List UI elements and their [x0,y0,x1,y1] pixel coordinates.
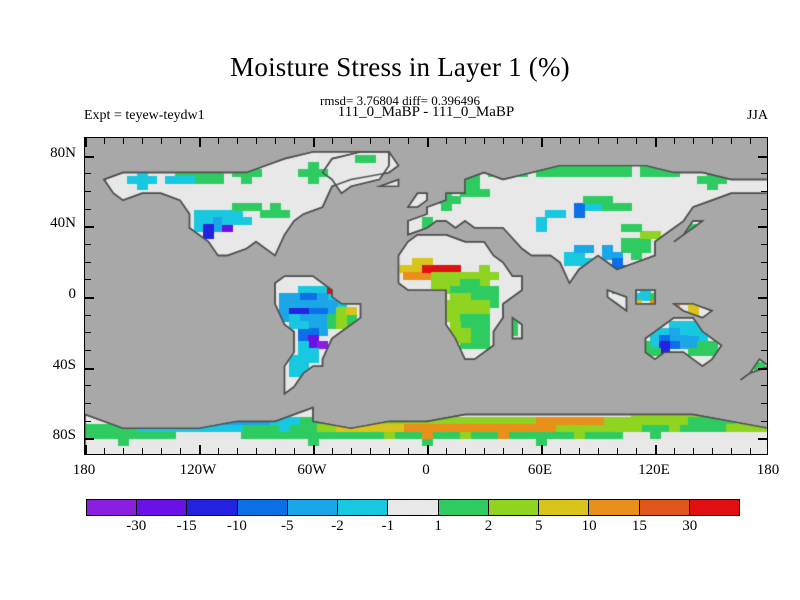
x-axis-tick [446,448,447,454]
y-axis-tick [85,332,91,333]
season-label: JJA [747,108,768,124]
x-axis-tick [218,138,219,144]
x-axis-tick [313,138,315,147]
x-axis-label: 60E [495,462,585,479]
y-axis-tick [758,226,767,228]
x-axis-tick [503,138,504,144]
y-axis-tick [758,368,767,370]
colorbar-tick-labels: -30-15-10-5-2-1125101530 [86,518,740,540]
x-axis-tick [522,448,523,454]
y-axis-label: 40N [4,215,76,232]
colorbar-segment [439,500,489,515]
x-axis-tick [408,138,409,144]
y-axis-tick [761,403,767,404]
colorbar-segment [489,500,539,515]
x-axis-tick [465,138,466,144]
x-axis-tick [598,138,599,144]
x-axis-tick [693,138,694,144]
x-axis-tick [560,448,561,454]
x-axis-tick [560,138,561,144]
x-axis-tick [218,448,219,454]
colorbar-segment [640,500,690,515]
x-axis-tick [275,448,276,454]
x-axis-tick [541,445,543,454]
x-axis-tick [332,138,333,144]
y-axis-tick [85,421,91,422]
y-axis-tick [761,173,767,174]
x-axis-tick [693,448,694,454]
y-axis-tick [85,315,91,316]
colorbar-segment [288,500,338,515]
x-axis-tick [370,448,371,454]
x-axis-tick [389,448,390,454]
x-axis-tick [104,448,105,454]
x-axis-tick [180,448,181,454]
x-axis-tick [408,448,409,454]
x-axis-tick [655,445,657,454]
x-axis-tick [237,448,238,454]
x-axis-tick [180,138,181,144]
page-title: Moisture Stress in Layer 1 (%) [0,52,800,83]
x-axis-tick [712,138,713,144]
y-axis-label: 40S [4,357,76,374]
y-axis-tick [761,209,767,210]
case-comparison-label: 111_0_MaBP - 111_0_MaBP [84,104,768,121]
x-axis-tick [465,448,466,454]
x-axis-tick [750,448,751,454]
x-axis-tick [731,448,732,454]
x-axis-label: 120E [609,462,699,479]
figure-root: Moisture Stress in Layer 1 (%) rmsd= 3.7… [0,0,800,600]
y-axis-tick [85,385,91,386]
x-axis-tick [123,138,124,144]
colorbar-segment [539,500,589,515]
y-axis-tick [758,297,767,299]
x-axis-tick [617,138,618,144]
y-axis-tick [761,350,767,351]
colorbar-segment [137,500,187,515]
colorbar-segment [690,500,739,515]
x-axis-tick [712,448,713,454]
y-axis-tick [761,385,767,386]
x-axis-tick [484,138,485,144]
y-axis-tick [85,244,91,245]
colorbar-segment [338,500,388,515]
y-axis-tick [85,209,91,210]
x-axis-tick [579,138,580,144]
y-axis-tick [761,315,767,316]
x-axis-tick [104,138,105,144]
x-axis-tick [161,448,162,454]
x-axis-tick [636,448,637,454]
x-axis-tick [199,138,201,147]
x-axis-tick [294,138,295,144]
x-axis-tick [351,448,352,454]
x-axis-label: 0 [381,462,471,479]
y-axis-tick [85,297,94,299]
x-axis-tick [332,448,333,454]
y-axis-tick [761,262,767,263]
y-axis-tick [761,279,767,280]
colorbar [86,499,740,516]
x-axis-tick [731,138,732,144]
x-axis-tick [85,445,87,454]
x-axis-tick [199,445,201,454]
x-axis-tick [750,138,751,144]
x-axis-label: 60W [267,462,357,479]
x-axis-tick [256,138,257,144]
y-axis-tick [85,350,91,351]
header-row: Expt = teyew-teydw1 111_0_MaBP - 111_0_M… [84,108,768,128]
y-axis-label: 80N [4,145,76,162]
colorbar-segment [238,500,288,515]
x-axis-tick [674,448,675,454]
y-axis-tick [85,262,91,263]
x-axis-tick [503,448,504,454]
x-axis-label: 180 [39,462,129,479]
y-axis-tick [761,421,767,422]
x-axis-tick [427,138,429,147]
x-axis-tick [275,138,276,144]
x-axis-tick [370,138,371,144]
y-axis-tick [85,279,91,280]
x-axis-tick [674,138,675,144]
x-axis-tick [351,138,352,144]
y-axis-tick [85,156,94,158]
x-axis-tick [85,138,87,147]
x-axis-tick [598,448,599,454]
map-plot-area [84,137,768,455]
x-axis-tick [161,138,162,144]
x-axis-tick [636,138,637,144]
x-axis-tick [123,448,124,454]
x-axis-tick [313,445,315,454]
x-axis-tick [256,448,257,454]
y-axis-tick [761,244,767,245]
y-axis-tick [85,226,94,228]
colorbar-segment [589,500,639,515]
colorbar-segment [388,500,438,515]
x-axis-tick [389,138,390,144]
x-axis-label: 180 [723,462,800,479]
map-canvas [85,138,768,455]
x-axis-tick [617,448,618,454]
y-axis-tick [758,156,767,158]
x-axis-tick [541,138,543,147]
y-axis-tick [85,438,94,440]
y-axis-tick [85,191,91,192]
y-axis-label: 0 [4,286,76,303]
y-axis-tick [85,173,91,174]
colorbar-segment [87,500,137,515]
x-axis-tick [142,448,143,454]
x-axis-tick [294,448,295,454]
y-axis-label: 80S [4,427,76,444]
x-axis-tick [427,445,429,454]
x-axis-tick [484,448,485,454]
x-axis-tick [655,138,657,147]
x-axis-label: 120W [153,462,243,479]
y-axis-tick [758,438,767,440]
colorbar-tick-label: 30 [660,518,720,535]
x-axis-tick [522,138,523,144]
x-axis-tick [237,138,238,144]
y-axis-tick [85,403,91,404]
colorbar-segment [187,500,237,515]
y-axis-tick [761,191,767,192]
x-axis-tick [579,448,580,454]
y-axis-tick [761,332,767,333]
x-axis-tick [142,138,143,144]
x-axis-tick [446,138,447,144]
y-axis-tick [85,368,94,370]
